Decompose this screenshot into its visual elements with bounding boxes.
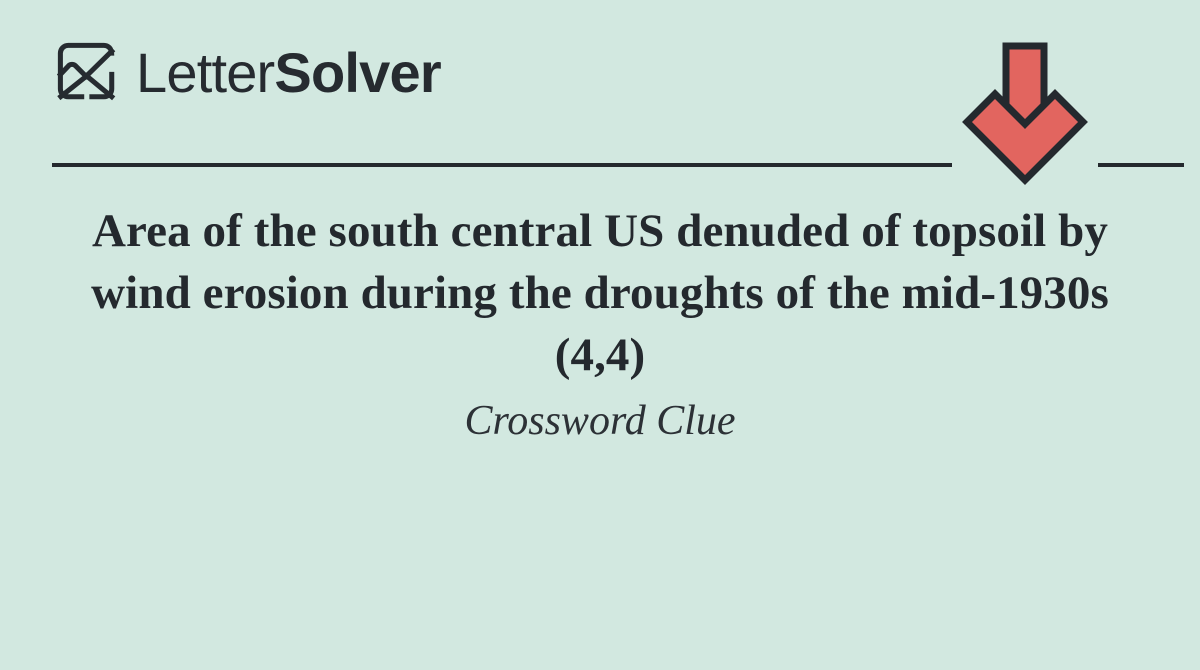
brand-name-light: Letter: [136, 41, 274, 104]
page-title: Area of the south central US denuded of …: [0, 200, 1200, 386]
arrow-down-icon: [962, 40, 1088, 192]
clue-content: Area of the south central US denuded of …: [0, 200, 1200, 448]
divider-right: [1098, 163, 1184, 167]
brand-wordmark: LetterSolver: [136, 42, 441, 104]
brand-logo[interactable]: LetterSolver: [57, 42, 441, 104]
page-root: LetterSolver Area of the south central U…: [0, 0, 1200, 670]
divider-left: [52, 163, 952, 167]
checkbox-check-logo-icon: [57, 42, 119, 104]
brand-name-bold: Solver: [274, 41, 440, 104]
page-subtitle: Crossword Clue: [0, 394, 1200, 448]
site-header: LetterSolver: [0, 0, 1200, 200]
